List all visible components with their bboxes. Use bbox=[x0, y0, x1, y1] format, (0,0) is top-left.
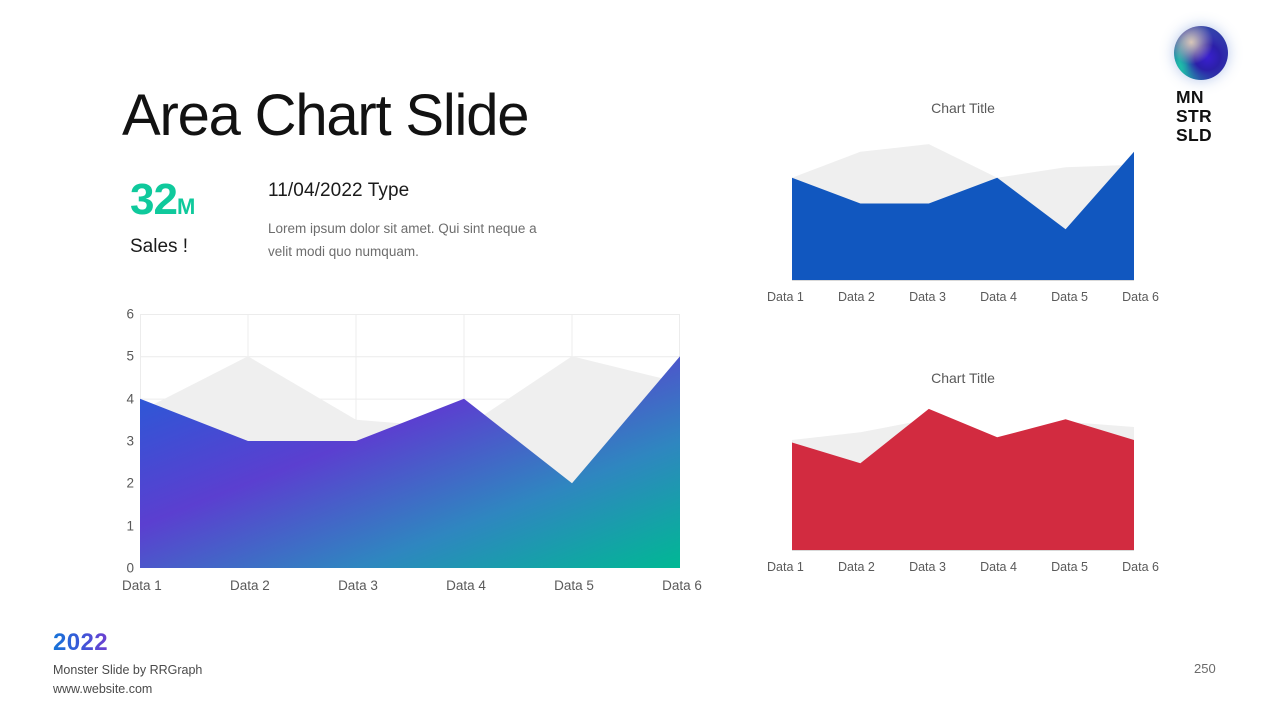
main-chart-x-tick: Data 2 bbox=[230, 578, 270, 600]
main-chart-y-tick: 3 bbox=[126, 434, 134, 449]
bottom-right-chart-plot-area bbox=[792, 396, 1134, 551]
main-chart-x-tick: Data 4 bbox=[446, 578, 486, 600]
footer-credit: Monster Slide by RRGraph bbox=[53, 661, 202, 680]
footer-year: 2022 bbox=[53, 629, 108, 657]
kpi-value: 32M bbox=[130, 178, 250, 222]
main-chart-x-axis: Data 1Data 2Data 3Data 4Data 5Data 6 bbox=[122, 578, 702, 600]
kpi-label: Sales ! bbox=[130, 236, 250, 258]
top-right-chart: Chart Title Data 1Data 2Data 3Data 4Data… bbox=[762, 100, 1164, 325]
main-chart-x-tick: Data 3 bbox=[338, 578, 378, 600]
brand-line-3: SLD bbox=[1176, 126, 1234, 145]
top-right-x-tick: Data 4 bbox=[980, 290, 1017, 310]
footer-credit-block: Monster Slide by RRGraph www.website.com bbox=[53, 661, 202, 699]
top-right-chart-title: Chart Title bbox=[762, 100, 1164, 116]
main-chart-y-tick: 5 bbox=[126, 349, 134, 364]
top-right-x-tick: Data 1 bbox=[767, 290, 804, 310]
bottom-right-series-red bbox=[792, 409, 1134, 551]
page-number: 250 bbox=[1194, 661, 1216, 676]
bottom-right-x-tick: Data 2 bbox=[838, 560, 875, 580]
main-chart-y-tick: 2 bbox=[126, 476, 134, 491]
top-right-chart-svg bbox=[792, 126, 1134, 281]
main-chart-svg bbox=[140, 314, 680, 568]
bottom-right-x-tick: Data 4 bbox=[980, 560, 1017, 580]
main-chart-y-axis: 0123456 bbox=[112, 314, 134, 568]
brand-logo: MN STR SLD bbox=[1174, 26, 1234, 145]
bottom-right-x-tick: Data 6 bbox=[1122, 560, 1159, 580]
main-chart-y-tick: 0 bbox=[126, 561, 134, 576]
top-right-chart-plot-area bbox=[792, 126, 1134, 281]
sphere-icon bbox=[1174, 26, 1228, 80]
brand-logo-text: MN STR SLD bbox=[1176, 88, 1234, 145]
main-chart-y-tick: 1 bbox=[126, 518, 134, 533]
description-heading: 11/04/2022 Type bbox=[268, 180, 558, 202]
brand-line-2: STR bbox=[1176, 107, 1234, 126]
bottom-right-chart-svg bbox=[792, 396, 1134, 551]
slide-canvas: Area Chart Slide 32M Sales ! 11/04/2022 … bbox=[0, 0, 1280, 720]
bottom-right-chart: Chart Title Data 1Data 2Data 3Data 4Data… bbox=[762, 370, 1164, 595]
kpi-block: 32M Sales ! bbox=[130, 178, 250, 258]
footer-website[interactable]: www.website.com bbox=[53, 680, 202, 699]
top-right-x-tick: Data 5 bbox=[1051, 290, 1088, 310]
brand-line-1: MN bbox=[1176, 88, 1234, 107]
description-body: Lorem ipsum dolor sit amet. Qui sint neq… bbox=[268, 217, 558, 263]
top-right-x-tick: Data 6 bbox=[1122, 290, 1159, 310]
top-right-chart-x-axis: Data 1Data 2Data 3Data 4Data 5Data 6 bbox=[767, 290, 1159, 310]
main-chart-x-tick: Data 5 bbox=[554, 578, 594, 600]
bottom-right-x-tick: Data 3 bbox=[909, 560, 946, 580]
main-chart-x-tick: Data 6 bbox=[662, 578, 702, 600]
kpi-unit: M bbox=[177, 194, 195, 219]
main-chart-plot-area bbox=[140, 314, 680, 568]
description-block: 11/04/2022 Type Lorem ipsum dolor sit am… bbox=[268, 180, 558, 263]
main-chart-y-tick: 4 bbox=[126, 391, 134, 406]
top-right-x-tick: Data 3 bbox=[909, 290, 946, 310]
bottom-right-chart-title: Chart Title bbox=[762, 370, 1164, 386]
kpi-number: 32 bbox=[130, 175, 177, 224]
top-right-x-tick: Data 2 bbox=[838, 290, 875, 310]
bottom-right-chart-x-axis: Data 1Data 2Data 3Data 4Data 5Data 6 bbox=[767, 560, 1159, 580]
bottom-right-x-tick: Data 5 bbox=[1051, 560, 1088, 580]
bottom-right-x-tick: Data 1 bbox=[767, 560, 804, 580]
main-chart-x-tick: Data 1 bbox=[122, 578, 162, 600]
page-title: Area Chart Slide bbox=[122, 86, 528, 147]
main-area-chart: 0123456 bbox=[112, 300, 702, 610]
main-chart-y-tick: 6 bbox=[126, 307, 134, 322]
